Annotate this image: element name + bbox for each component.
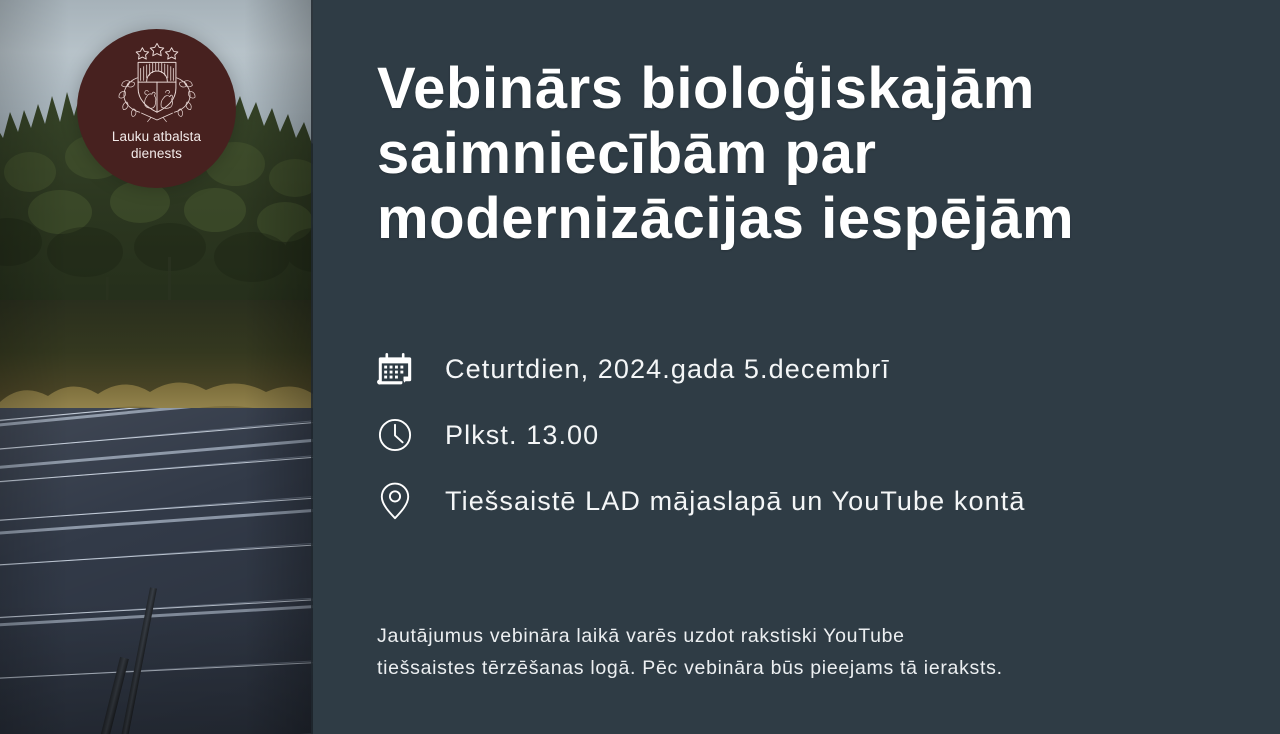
footnote-line2: tiešsaistes tērzēšanas logā. Pēc vebinār… <box>377 652 1257 684</box>
event-detail-date: Ceturtdien, 2024.gada 5.decembrī <box>375 336 1255 402</box>
logo-name-line2: dienests <box>131 146 182 161</box>
event-location-text: Tiešsaistē LAD mājaslapā un YouTube kont… <box>445 486 1025 517</box>
event-detail-location: Tiešsaistē LAD mājaslapā un YouTube kont… <box>375 468 1255 534</box>
logo-name: Lauku atbalsta dienests <box>112 129 201 162</box>
calendar-icon <box>375 349 415 389</box>
page-title-line3: modernizācijas iespējām <box>377 186 1237 251</box>
logo-name-line1: Lauku atbalsta <box>112 129 201 144</box>
page-title-line1: Vebinārs bioloģiskajām <box>377 56 1237 121</box>
event-detail-time: Plkst. 13.00 <box>375 402 1255 468</box>
footnote-line1: Jautājumus vebināra laikā varēs uzdot ra… <box>377 620 1257 652</box>
solar-panel-array <box>0 408 313 734</box>
latvian-coat-of-arms-icon <box>114 40 200 126</box>
lad-logo-badge: Lauku atbalsta dienests <box>77 29 236 188</box>
content-panel: Vebinārs bioloģiskajām saimniecībām par … <box>313 0 1280 734</box>
webinar-announcement-poster: Lauku atbalsta dienests Vebinārs bioloģi… <box>0 0 1280 734</box>
page-title: Vebinārs bioloģiskajām saimniecībām par … <box>377 56 1237 251</box>
page-title-line2: saimniecībām par <box>377 121 1237 186</box>
map-pin-icon <box>375 481 415 521</box>
event-date-text: Ceturtdien, 2024.gada 5.decembrī <box>445 354 890 385</box>
event-details-list: Ceturtdien, 2024.gada 5.decembrī Plkst. … <box>375 336 1255 534</box>
clock-icon <box>375 415 415 455</box>
event-time-text: Plkst. 13.00 <box>445 420 599 451</box>
footnote-text: Jautājumus vebināra laikā varēs uzdot ra… <box>377 620 1257 684</box>
